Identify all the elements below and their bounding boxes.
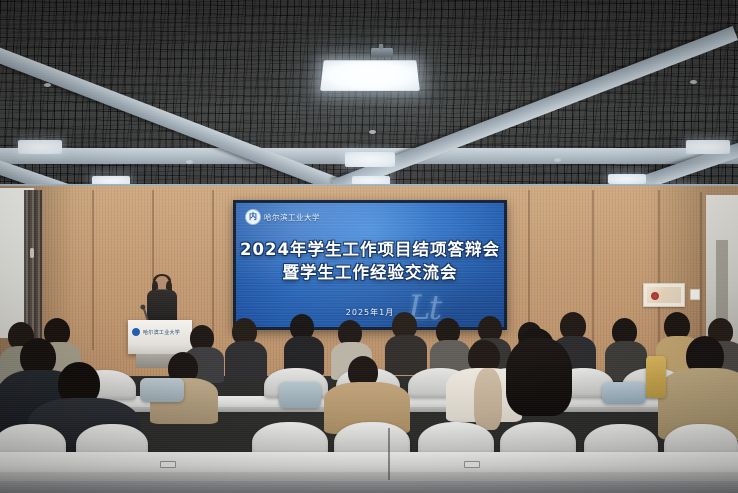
- audience-bag: [140, 378, 184, 402]
- wall-seam-7: [700, 192, 702, 342]
- seat[interactable]: [418, 422, 494, 456]
- emblem-glyph: 内: [249, 213, 257, 221]
- desk-row-front-shadow: [0, 481, 738, 493]
- wall-seam-5: [592, 190, 594, 345]
- conference-hall-photo: 内 哈尔滨工业大学 Lt 2024年学生工作项目结项答辩会 暨学生工作经验交流会…: [0, 0, 738, 493]
- desk-row-front-edge: [0, 472, 738, 481]
- seat[interactable]: [500, 422, 576, 456]
- ceiling-fixture-dot-right2: [554, 158, 561, 162]
- screen-university-logo: 内 哈尔滨工业大学: [246, 210, 320, 224]
- ceiling-light-6: [686, 140, 730, 154]
- desk-label-right: [464, 461, 480, 468]
- podium-emblem-icon: [132, 328, 140, 336]
- wall-seam-3: [212, 190, 214, 335]
- ceiling-fixture-dot-right: [690, 80, 697, 84]
- seat[interactable]: [334, 422, 410, 456]
- ceiling-light-2: [345, 152, 395, 167]
- ceiling-projector-mount: [371, 48, 393, 57]
- projection-screen: 内 哈尔滨工业大学 Lt 2024年学生工作项目结项答辩会 暨学生工作经验交流会…: [233, 200, 507, 330]
- ceiling-light-4: [18, 140, 62, 154]
- audience-cushion: [602, 382, 646, 404]
- left-curtain: [24, 190, 42, 342]
- audience-backpack: [279, 382, 321, 408]
- screen-title-line-2: 暨学生工作经验交流会: [236, 261, 504, 285]
- audience-body: [225, 341, 267, 381]
- ceiling-light-7: [608, 174, 646, 184]
- wall-light-switch[interactable]: [690, 289, 700, 300]
- projection-screen-surface: 内 哈尔滨工业大学 Lt 2024年学生工作项目结项答辩会 暨学生工作经验交流会…: [236, 203, 504, 327]
- wall-seam-4: [528, 190, 530, 340]
- audience-light-hair: [474, 368, 502, 430]
- desk-row-front: [0, 452, 738, 474]
- screen-date-text: 2025年1月: [236, 307, 504, 318]
- podium-sign-text: 哈尔滨工业大学: [143, 329, 180, 336]
- framed-artwork: [643, 283, 685, 307]
- audience-scarf: [646, 356, 666, 398]
- podium-sign: 哈尔滨工业大学: [132, 326, 188, 338]
- screen-title-block: 2024年学生工作项目结项答辩会 暨学生工作经验交流会: [236, 239, 504, 285]
- wall-seam-6: [658, 190, 660, 348]
- speaker-presenter: [146, 276, 178, 326]
- seat[interactable]: [252, 422, 328, 456]
- audience-body: [385, 335, 427, 375]
- ceiling: [0, 0, 738, 200]
- ceiling-fixture-dot-left: [44, 83, 51, 87]
- ceiling-fixture-dot-left2: [186, 160, 193, 164]
- podium: 哈尔滨工业大学: [128, 320, 192, 354]
- curtain-tieback: [30, 248, 34, 258]
- audience-long-hair: [506, 338, 572, 416]
- desk-label-left: [160, 461, 176, 468]
- university-emblem-icon: 内: [246, 210, 260, 224]
- desk-divider-center: [388, 428, 390, 480]
- ceiling-fixture-dot-center: [369, 130, 376, 134]
- university-name-text: 哈尔滨工业大学: [264, 212, 320, 223]
- wall-seam-1: [92, 190, 94, 350]
- screen-title-line-1: 2024年学生工作项目结项答辩会: [236, 239, 504, 261]
- ceiling-light-main: [320, 60, 420, 91]
